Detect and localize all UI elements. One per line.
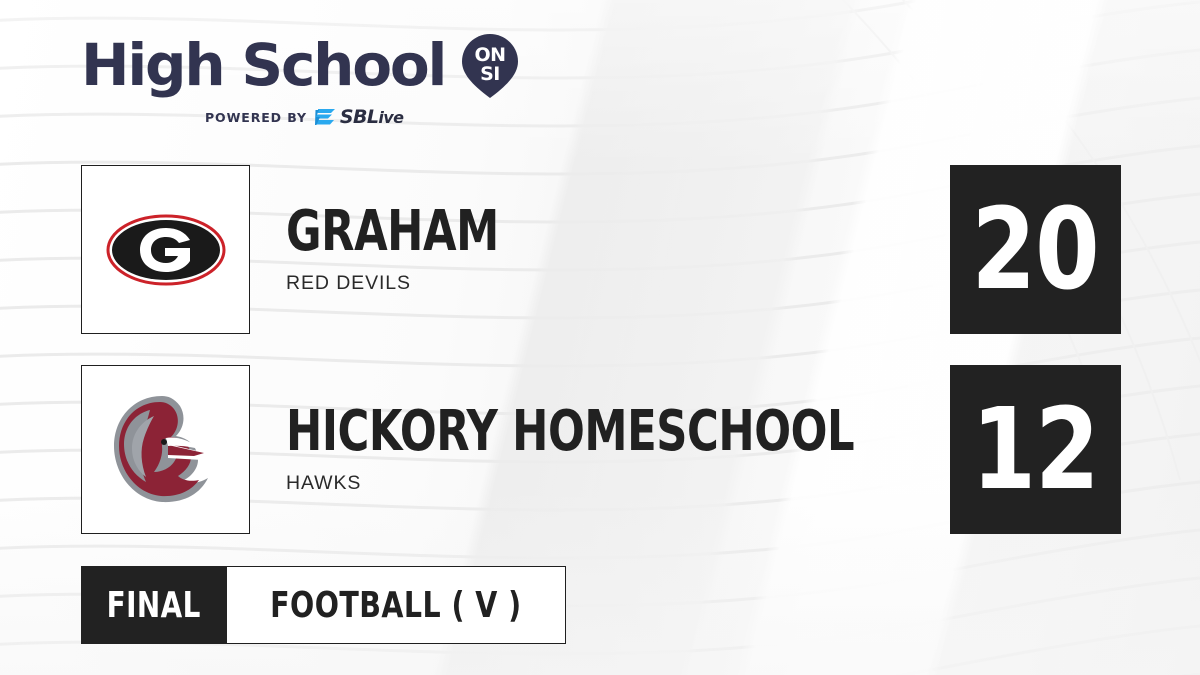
- team-logo-box: [81, 365, 250, 534]
- status-badge-label: FINAL: [107, 585, 201, 626]
- brand-title: High School: [81, 36, 445, 94]
- sport-label: FOOTBALL ( V ): [270, 585, 521, 626]
- sblive-s-mark-icon: [315, 108, 337, 127]
- team-nickname: RED DEVILS: [286, 272, 533, 295]
- sport-label-box: FOOTBALL ( V ): [227, 566, 566, 644]
- team-text-block: GRAHAM RED DEVILS: [286, 165, 533, 334]
- sblive-logo: SBLive: [315, 106, 403, 128]
- sblive-wordmark: SBLive: [340, 106, 403, 128]
- powered-by-label: POWERED BY: [205, 110, 307, 125]
- brand-header: High School ON SI POWERED BY SBLive: [81, 34, 601, 138]
- team-score-box: 20: [950, 165, 1121, 334]
- team-score: 12: [972, 394, 1099, 506]
- team-row: HICKORY HOMESCHOOL HAWKS 12: [81, 365, 1121, 534]
- team-score-box: 12: [950, 365, 1121, 534]
- team-row: GRAHAM RED DEVILS 20: [81, 165, 1121, 334]
- team-name: GRAHAM: [286, 204, 499, 260]
- team-score: 20: [972, 194, 1099, 306]
- team-logo-box: [81, 165, 250, 334]
- svg-text:SI: SI: [480, 63, 500, 85]
- powered-by-row: POWERED BY SBLive: [205, 106, 601, 128]
- scoreboard-card: High School ON SI POWERED BY SBLive: [0, 0, 1200, 675]
- game-status-bar: FINAL FOOTBALL ( V ): [81, 566, 566, 644]
- hickory-homeschool-hawks-logo: [104, 388, 228, 512]
- graham-red-devils-g-logo: [104, 188, 228, 312]
- team-text-block: HICKORY HOMESCHOOL HAWKS: [286, 365, 947, 534]
- team-name: HICKORY HOMESCHOOL: [286, 404, 854, 460]
- sblive-word-upper: SBL: [340, 106, 378, 128]
- on-si-location-pin-icon: ON SI: [459, 32, 521, 100]
- team-nickname: HAWKS: [286, 472, 947, 495]
- status-badge: FINAL: [81, 566, 227, 644]
- sblive-word-lower: ive: [378, 108, 403, 127]
- brand-title-row: High School ON SI: [81, 34, 601, 96]
